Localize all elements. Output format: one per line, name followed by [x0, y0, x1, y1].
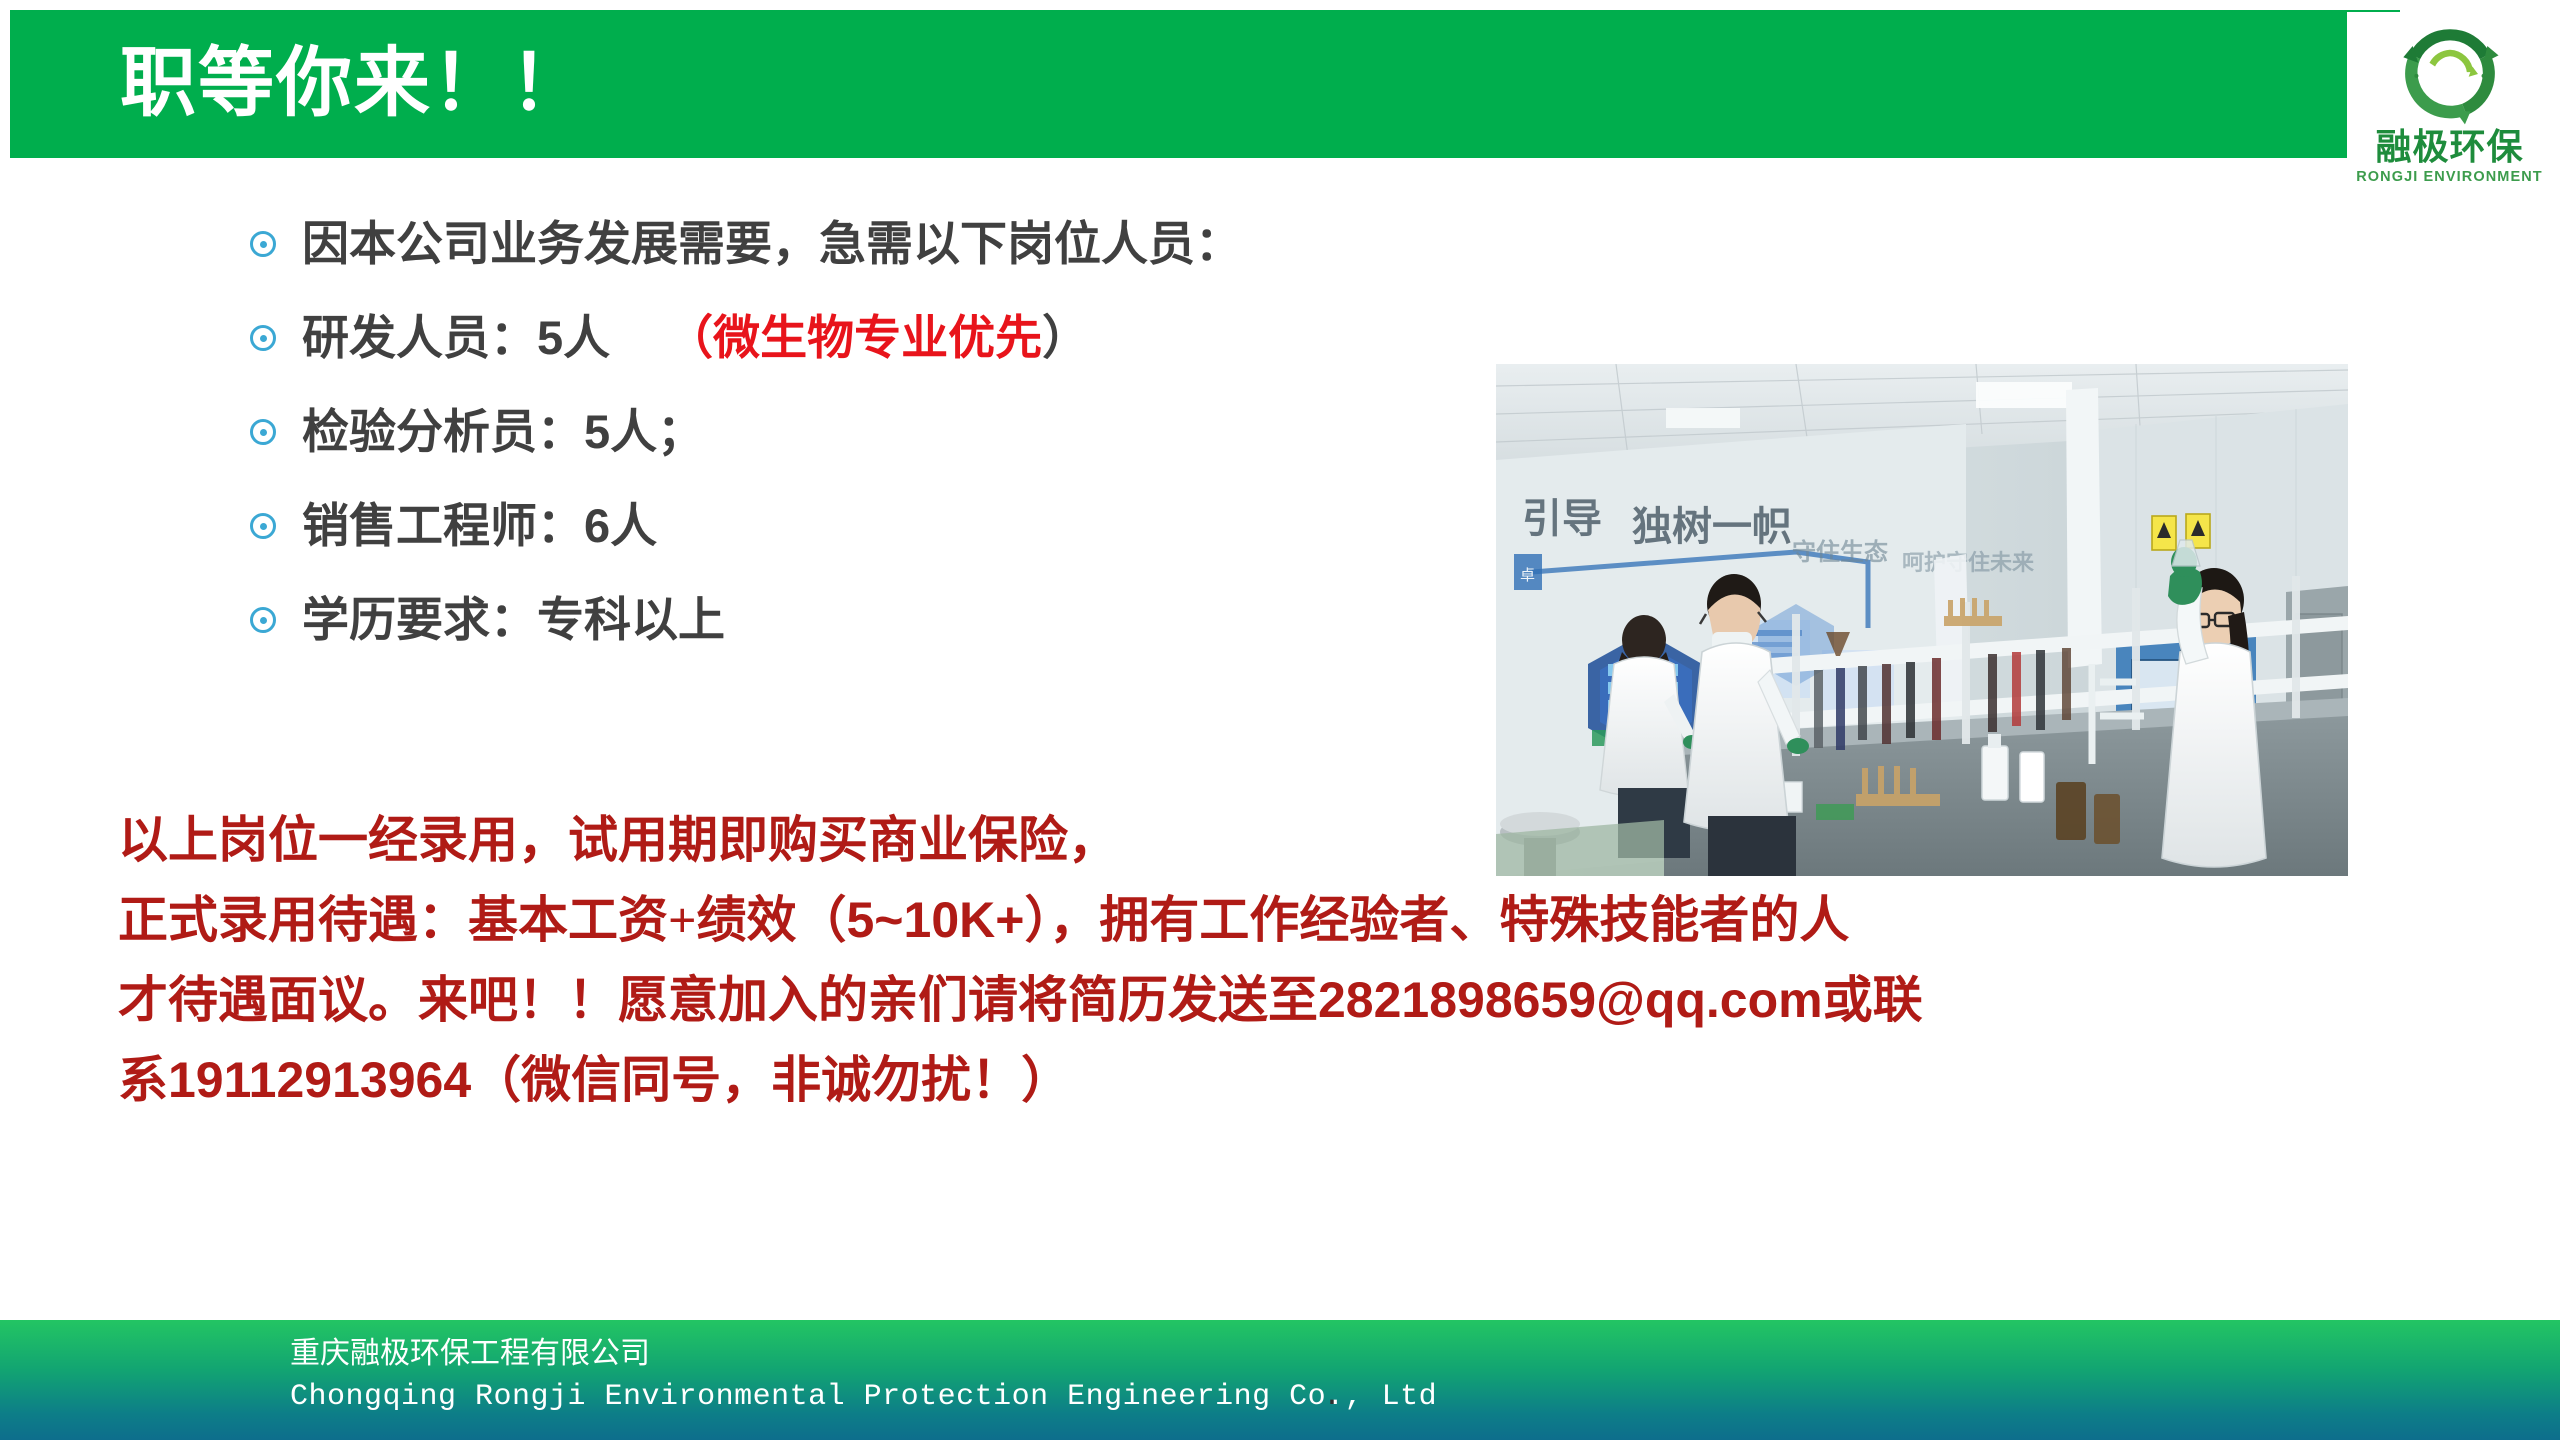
contact-phone[interactable]: 19112913964	[168, 1052, 471, 1108]
job-rd-count: 研发人员：5人	[302, 311, 610, 364]
list-item: 销售工程师：6人	[250, 490, 1500, 562]
svg-text:守住生态: 守住生态	[1792, 538, 1888, 566]
list-item: 研发人员：5人（微生物专业优先）	[250, 302, 1500, 374]
logo-name-cn: 融极环保	[2375, 128, 2523, 166]
terms-line-4: 系19112913964（微信同号，非诚勿扰！）	[118, 1040, 2498, 1120]
list-item-label: 检验分析员：5人；	[302, 402, 704, 462]
footer-company-cn: 重庆融极环保工程有限公司	[290, 1335, 650, 1373]
terms-line-1: 以上岗位一经录用，试用期即购买商业保险，	[118, 800, 2498, 880]
list-item: 学历要求：专科以上	[250, 584, 1500, 656]
bullet-dot-icon	[250, 607, 276, 633]
terms-line-4-c: （微信同号，非诚勿扰！）	[471, 1052, 1071, 1108]
terms-line-3-c: 或联	[1823, 972, 1923, 1028]
recruitment-terms-paragraph: 以上岗位一经录用，试用期即购买商业保险， 正式录用待遇：基本工资+绩效（5~10…	[118, 800, 2498, 1120]
recycle-circle-icon	[2394, 18, 2506, 130]
list-item-label: 学历要求：专科以上	[302, 590, 725, 650]
bullet-dot-icon	[250, 325, 276, 351]
terms-line-2: 正式录用待遇：基本工资+绩效（5~10K+），拥有工作经验者、特殊技能者的人	[118, 880, 2498, 960]
salary-range: 5~10K+	[847, 892, 1025, 948]
list-item-label: 因本公司业务发展需要，急需以下岗位人员：	[302, 214, 1242, 274]
header-banner: 职等你来！！	[10, 10, 2400, 158]
terms-line-3: 才待遇面议。来吧！！愿意加入的亲们请将简历发送至2821898659@qq.co…	[118, 960, 2498, 1040]
terms-line-4-a: 系	[118, 1052, 168, 1108]
list-item: 因本公司业务发展需要，急需以下岗位人员：	[250, 208, 1500, 280]
bullet-dot-icon	[250, 419, 276, 445]
svg-text:卓: 卓	[1520, 566, 1535, 584]
contact-email[interactable]: 2821898659@qq.com	[1318, 972, 1823, 1028]
svg-text:独树一帜: 独树一帜	[1632, 504, 1792, 550]
footer-company-en: Chongqing Rongji Environmental Protectio…	[290, 1378, 1437, 1416]
terms-line-3-a: 才待遇面议。来吧！！愿意加入的亲们请将简历发送至	[118, 972, 1318, 1028]
svg-text:引导: 引导	[1522, 496, 1602, 542]
svg-text:呵护守住未来: 呵护守住未来	[1902, 550, 2035, 576]
logo-name-en: RONGJI ENVIRONMENT	[2356, 168, 2543, 186]
bullet-dot-icon	[250, 513, 276, 539]
job-rd-note: （微生物专业优先	[666, 311, 1042, 364]
footer-trailing-period: .	[1323, 1378, 1341, 1416]
list-item: 检验分析员：5人；	[250, 396, 1500, 468]
list-item-label: 研发人员：5人（微生物专业优先）	[302, 308, 1089, 368]
page-title: 职等你来！！	[120, 34, 588, 134]
bullet-dot-icon	[250, 231, 276, 257]
list-item-label: 销售工程师：6人	[302, 496, 657, 556]
job-list: 因本公司业务发展需要，急需以下岗位人员： 研发人员：5人（微生物专业优先） 检验…	[250, 208, 1500, 656]
terms-line-2-a: 正式录用待遇：基本工资+绩效（	[118, 892, 847, 948]
terms-line-2-c: ），拥有工作经验者、特殊技能者的人	[1024, 892, 1849, 948]
company-logo: 融极环保 RONGJI ENVIRONMENT	[2347, 12, 2552, 210]
job-rd-note-close: ）	[1042, 311, 1089, 364]
